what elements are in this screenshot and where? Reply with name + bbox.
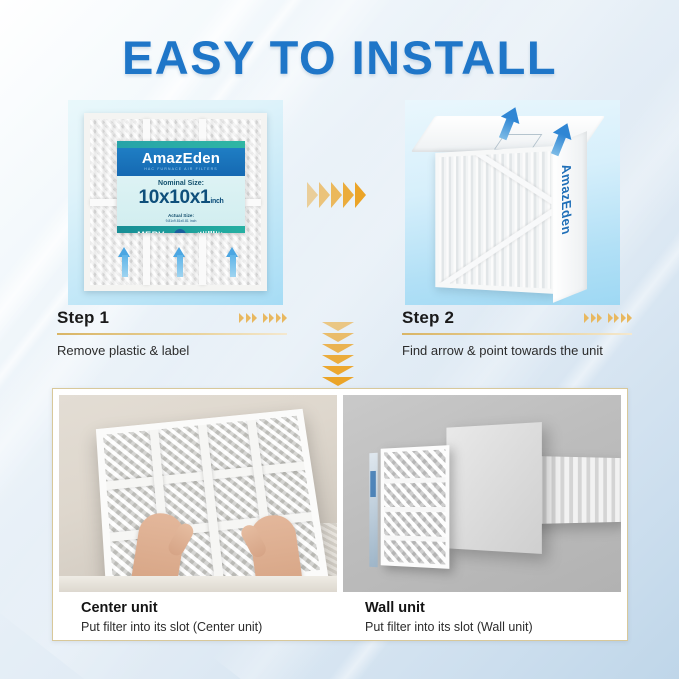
step-2-divider	[402, 333, 632, 335]
step-1-divider	[57, 333, 287, 335]
wall-unit-card: Wall unit Put filter into its slot (Wall…	[343, 395, 621, 634]
step-1-description: Remove plastic & label	[57, 343, 287, 358]
label-merv-rating-badge: 8	[174, 229, 186, 233]
filter-front-face	[435, 146, 556, 294]
wall-duct-photo	[343, 395, 621, 592]
bottom-installation-panel: Center unit Put filter into its slot (Ce…	[52, 388, 628, 641]
step-2-title: Step 2	[402, 308, 454, 328]
center-unit-caption: Center unit Put filter into its slot (Ce…	[59, 592, 337, 634]
wall-filter	[381, 445, 450, 569]
center-unit-description: Put filter into its slot (Center unit)	[81, 620, 325, 634]
label-actual-size-value: 9.81x9.81x0.81 inch	[119, 218, 243, 224]
wall-unit-title: Wall unit	[365, 600, 609, 616]
filter-edge-strip	[369, 453, 377, 567]
label-merv-bar: MERV 8	[117, 226, 245, 233]
step-2-description: Find arrow & point towards the unit	[402, 343, 632, 358]
label-brand-bar: AmazEden HAC FURNACE AIR FILTERS	[117, 148, 245, 176]
wall-unit-caption: Wall unit Put filter into its slot (Wall…	[343, 592, 621, 634]
label-nominal-size-unit: inch	[210, 198, 223, 205]
label-brand-name: AmazEden	[117, 151, 245, 166]
airflow-arrow-up-icon	[118, 247, 131, 277]
chevron-decoration-icon	[239, 313, 287, 323]
step-1-title: Step 1	[57, 308, 109, 328]
chevron-right-arrows-icon	[307, 182, 366, 208]
label-top-teal-bar	[117, 141, 245, 148]
step-2-text-block: Step 2 Find arrow & point towards the un…	[402, 308, 632, 358]
room-baseboard	[59, 576, 337, 592]
wall-duct-plate	[446, 422, 541, 554]
label-actual-size-number: 9.81x9.81x0.81	[166, 219, 189, 223]
label-nominal-size-value: 10x10x1inch	[119, 187, 243, 212]
airflow-wave-icon	[195, 231, 225, 234]
product-label-card: AmazEden HAC FURNACE AIR FILTERS Nominal…	[117, 141, 245, 233]
wall-unit-description: Put filter into its slot (Wall unit)	[365, 620, 609, 634]
air-filter-front: AmazEden HAC FURNACE AIR FILTERS Nominal…	[84, 113, 267, 291]
label-brand-subtitle: HAC FURNACE AIR FILTERS	[117, 166, 245, 173]
step-2-product-image: AmazEden	[405, 100, 620, 305]
step-1-product-image: AmazEden HAC FURNACE AIR FILTERS Nominal…	[68, 100, 283, 305]
label-size-section: Nominal Size: 10x10x1inch Actual Size: 9…	[117, 176, 245, 226]
center-unit-card: Center unit Put filter into its slot (Ce…	[59, 395, 337, 634]
center-unit-title: Center unit	[81, 600, 325, 616]
label-nominal-size-number: 10x10x1	[138, 187, 210, 208]
airflow-arrow-up-icon	[226, 247, 239, 277]
page-title: EASY TO INSTALL	[0, 30, 679, 85]
ceiling-vent-photo	[59, 395, 337, 592]
label-actual-size-unit: inch	[190, 219, 196, 223]
filter-side-brand-text: AmazEden	[559, 162, 574, 237]
air-filter-angled: AmazEden	[411, 108, 616, 298]
chevron-down-arrows-icon	[322, 322, 354, 386]
label-nominal-size-caption: Nominal Size:	[119, 180, 243, 187]
step-1-text-block: Step 1 Remove plastic & label	[57, 308, 287, 358]
airflow-arrow-up-icon	[173, 247, 186, 277]
chevron-decoration-icon	[584, 313, 632, 323]
label-merv-caption: MERV	[137, 230, 164, 233]
